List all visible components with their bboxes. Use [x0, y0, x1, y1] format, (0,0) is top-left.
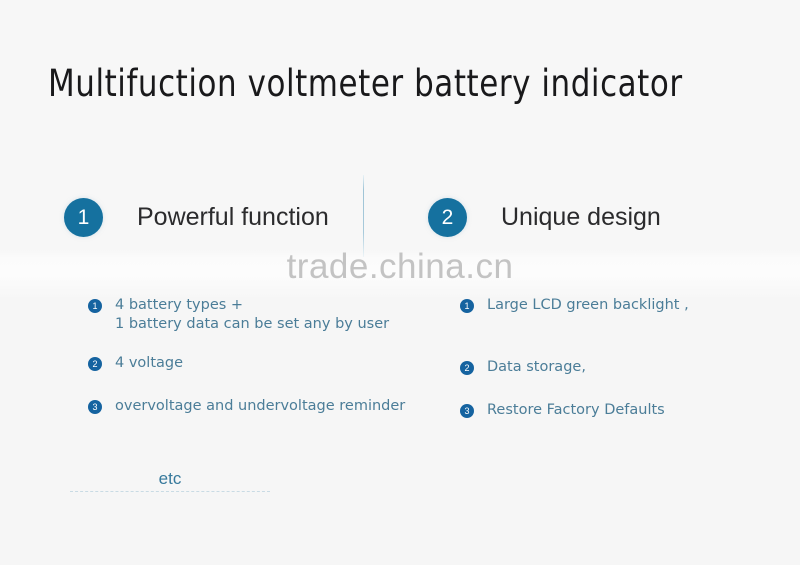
feature-list: 1 4 battery types + 1 battery data can b…: [88, 296, 405, 416]
section-title: Unique design: [501, 203, 661, 232]
list-item-line1: 4 battery types +: [115, 297, 243, 313]
section-number-badge: 2: [428, 198, 467, 237]
list-item-line1: Large LCD green backlight ,: [487, 297, 689, 313]
etc-block: etc: [70, 470, 270, 492]
section-title: Powerful function: [137, 203, 329, 232]
list-item-text: Data storage,: [487, 358, 586, 377]
list-item-line1: overvoltage and undervoltage reminder: [115, 398, 405, 414]
section-header-2: 2 Unique design: [428, 198, 661, 237]
list-item-text: 4 voltage: [115, 354, 183, 373]
bullet-number-badge: 1: [460, 299, 474, 313]
list-item-line2: 1 battery data can be set any by user: [115, 315, 389, 334]
list-item-text: Large LCD green backlight ,: [487, 296, 689, 315]
etc-label: etc: [70, 470, 270, 488]
list-item-text: 4 battery types + 1 battery data can be …: [115, 296, 389, 334]
etc-underline: [70, 491, 270, 492]
list-item: 1 Large LCD green backlight ,: [460, 296, 689, 315]
bullet-number-badge: 1: [88, 299, 102, 313]
list-item: 1 4 battery types + 1 battery data can b…: [88, 296, 405, 334]
list-item: 2 Data storage,: [460, 358, 689, 377]
list-item: 2 4 voltage: [88, 354, 405, 373]
bullet-number-badge: 2: [88, 357, 102, 371]
list-item: 3 Restore Factory Defaults: [460, 401, 689, 420]
list-item-text: overvoltage and undervoltage reminder: [115, 397, 405, 416]
list-item-line1: 4 voltage: [115, 355, 183, 371]
section-header-1: 1 Powerful function: [64, 198, 329, 237]
feature-column-unique-design: 2 Unique design 1 Large LCD green backli…: [390, 0, 790, 565]
bullet-number-badge: 2: [460, 361, 474, 375]
section-number-badge: 1: [64, 198, 103, 237]
feature-list: 1 Large LCD green backlight , 2 Data sto…: [460, 296, 689, 420]
list-item: 3 overvoltage and undervoltage reminder: [88, 397, 405, 416]
feature-column-powerful-function: 1 Powerful function 1 4 battery types + …: [0, 0, 400, 565]
list-item-line1: Restore Factory Defaults: [487, 402, 665, 418]
list-item-text: Restore Factory Defaults: [487, 401, 665, 420]
bullet-number-badge: 3: [460, 404, 474, 418]
list-item-line1: Data storage,: [487, 359, 586, 375]
promo-banner: Multifuction voltmeter battery indicator…: [0, 0, 800, 565]
bullet-number-badge: 3: [88, 400, 102, 414]
